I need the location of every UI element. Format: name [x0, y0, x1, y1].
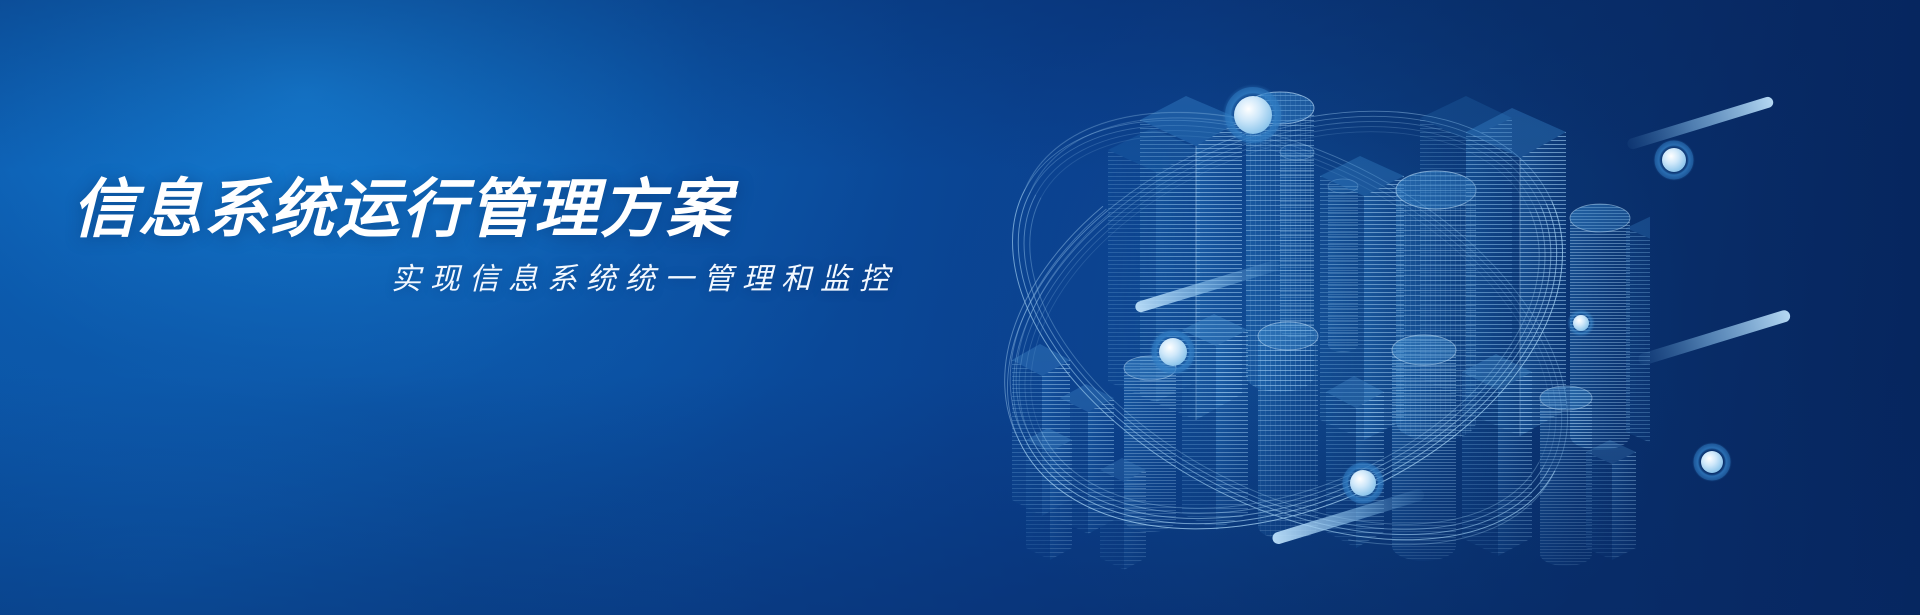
background-vignette-bottom: [0, 375, 1920, 615]
banner-title: 信息系统运行管理方案: [72, 176, 912, 244]
background-vignette-top: [0, 0, 1920, 170]
banner-text-block: 信息系统运行管理方案 实现信息系统统一管理和监控: [72, 176, 912, 299]
banner-subtitle: 实现信息系统统一管理和监控: [72, 260, 912, 299]
hero-banner: 信息系统运行管理方案 实现信息系统统一管理和监控: [0, 0, 1920, 615]
